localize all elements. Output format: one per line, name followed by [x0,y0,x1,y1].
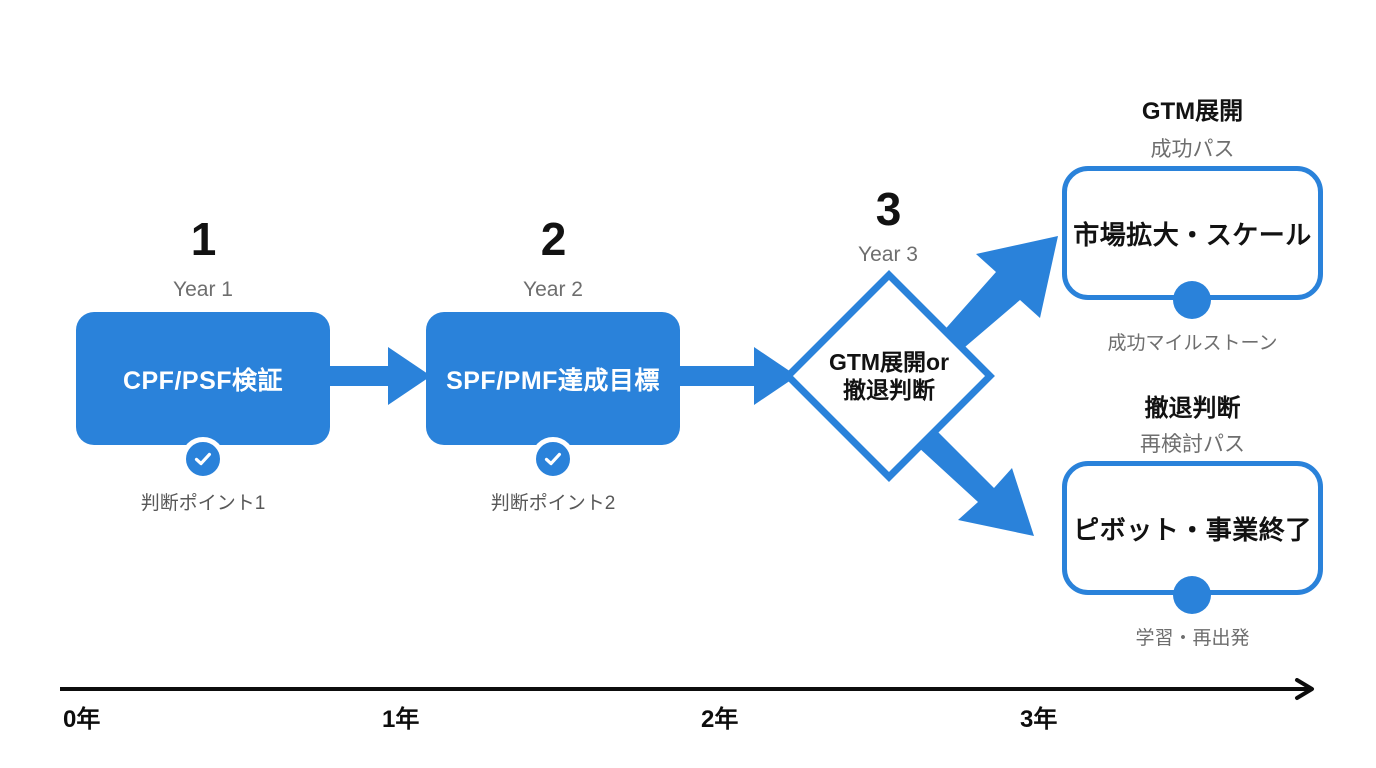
phase-1-number: 1 [76,216,330,262]
outcome-1-subtitle: 成功パス [1062,139,1323,160]
phase-2-label: SPF/PMF達成目標 [446,361,660,397]
outcome-1-dot-caption: 成功マイルストーン [1062,334,1323,353]
phase-2-badge-caption: 判断ポイント2 [426,494,680,513]
phase-1-year: Year 1 [76,279,330,300]
phase-2-check-icon [531,437,575,481]
milestone-dot-icon [1173,281,1211,319]
phase-1-badge-caption: 判断ポイント1 [76,494,330,513]
right-block-arrow-icon [680,345,798,407]
outcome-1-title: GTM展開 [1062,100,1323,124]
milestone-dot-icon [1173,576,1211,614]
timeline-tick-1: 1年 [382,708,419,732]
phase-2-number: 2 [426,216,680,262]
outcome-2-label: ピボット・事業終了 [1073,510,1312,547]
decision-year: Year 3 [788,244,988,265]
diagram-canvas: 1 Year 1 CPF/PSF検証 判断ポイント1 2 Year 2 SPF/… [0,0,1376,768]
timeline-axis [60,678,1318,702]
decision-number: 3 [788,186,988,232]
phase-1-label: CPF/PSF検証 [123,361,283,397]
phase-1-box[interactable]: CPF/PSF検証 [76,312,330,445]
outcome-1-label: 市場拡大・スケール [1073,215,1312,252]
timeline-tick-3: 3年 [1020,708,1057,732]
phase-1-check-icon [181,437,225,481]
outcome-2-subtitle: 再検討パス [1062,434,1323,455]
outcome-2-box[interactable]: ピボット・事業終了 [1062,461,1323,595]
timeline-tick-2: 2年 [701,708,738,732]
outcome-2-dot-caption: 学習・再出発 [1062,629,1323,648]
outcome-1-box[interactable]: 市場拡大・スケール [1062,166,1323,300]
decision-diamond[interactable]: GTM展開or 撤退判断 [783,270,995,482]
right-block-arrow-icon [330,345,432,407]
outcome-2-title: 撤退判断 [1062,397,1323,421]
phase-2-year: Year 2 [426,279,680,300]
phase-2-box[interactable]: SPF/PMF達成目標 [426,312,680,445]
timeline-tick-0: 0年 [63,708,100,732]
